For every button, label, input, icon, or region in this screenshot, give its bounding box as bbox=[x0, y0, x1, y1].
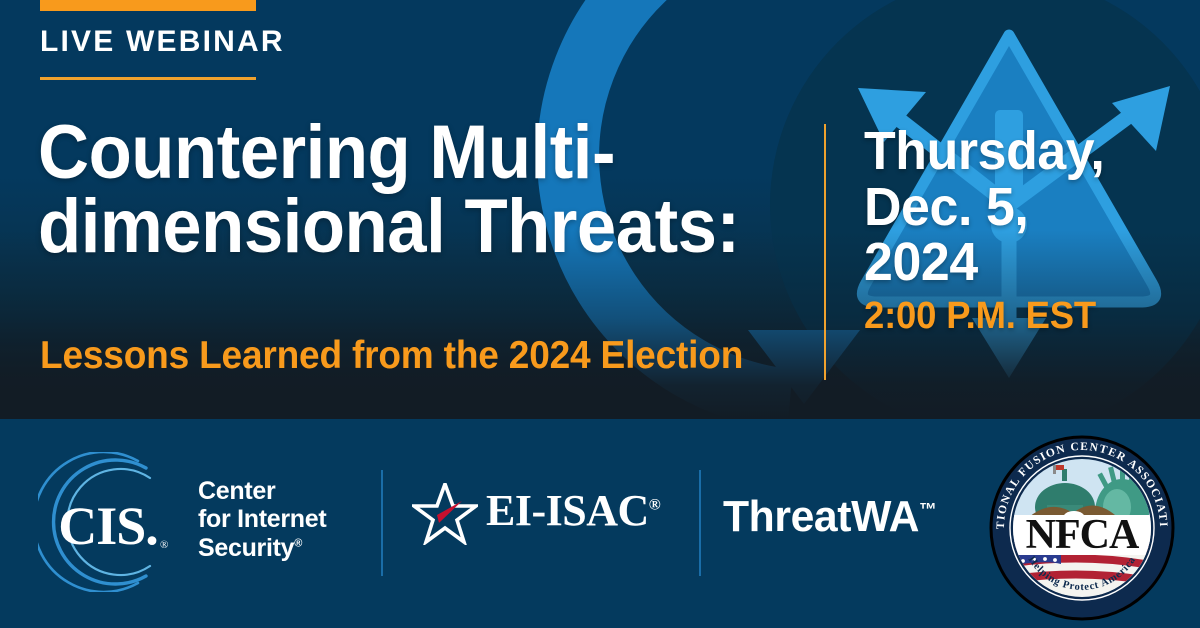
cis-name-registered: ® bbox=[294, 537, 302, 549]
cis-name-line-3: Security® bbox=[198, 534, 326, 562]
ei-isac-registered: ® bbox=[649, 496, 660, 513]
accent-bar-top bbox=[40, 0, 256, 11]
event-date-block: Thursday, Dec. 5, 2024 2:00 P.M. EST bbox=[864, 124, 1164, 335]
nfca-center-text: NFCA bbox=[1026, 512, 1140, 558]
threatwa-trademark: ™ bbox=[919, 499, 936, 519]
vertical-divider bbox=[824, 124, 826, 380]
event-date-line-2: Dec. 5, 2024 bbox=[864, 180, 1152, 291]
cis-name-line-2: for Internet bbox=[198, 505, 326, 533]
eyebrow-label: LIVE WEBINAR bbox=[40, 27, 285, 57]
hero-section: LIVE WEBINAR Countering Multi- dimension… bbox=[0, 0, 1200, 419]
webinar-promo-banner: LIVE WEBINAR Countering Multi- dimension… bbox=[0, 0, 1200, 628]
event-time: 2:00 P.M. EST bbox=[864, 297, 1152, 335]
logo-separator-2 bbox=[699, 470, 701, 576]
ei-isac-logo: EI-ISAC® bbox=[412, 483, 682, 545]
threatwa-wordmark: ThreatWA bbox=[723, 492, 919, 541]
page-title: Countering Multi- dimensional Threats: bbox=[38, 116, 754, 265]
nfca-seal-logo: NFCA NATIONAL FUSION CENTER ASSOCIATION … bbox=[989, 435, 1175, 621]
threatwa-logo: ThreatWA™ bbox=[723, 495, 936, 539]
cis-registered-mark: ® bbox=[160, 539, 168, 551]
page-title-line-1: Countering Multi- bbox=[38, 110, 615, 195]
cis-acronym: CIS. bbox=[58, 496, 158, 556]
star-swoosh-icon bbox=[412, 483, 478, 545]
cis-logo: CIS. ® Center for Internet Security® bbox=[38, 452, 378, 592]
page-title-line-2: dimensional Threats: bbox=[38, 190, 754, 264]
ei-isac-wordmark: EI-ISAC® bbox=[486, 489, 660, 533]
cis-name-line-1: Center bbox=[198, 477, 326, 505]
event-date-line-1: Thursday, bbox=[864, 124, 1152, 180]
logo-separator-1 bbox=[381, 470, 383, 576]
cis-wordmark: Center for Internet Security® bbox=[198, 477, 326, 562]
cis-arcs-icon: CIS. ® bbox=[38, 452, 178, 592]
accent-rule-under-eyebrow bbox=[40, 77, 256, 80]
page-subtitle: Lessons Learned from the 2024 Election bbox=[40, 336, 743, 375]
